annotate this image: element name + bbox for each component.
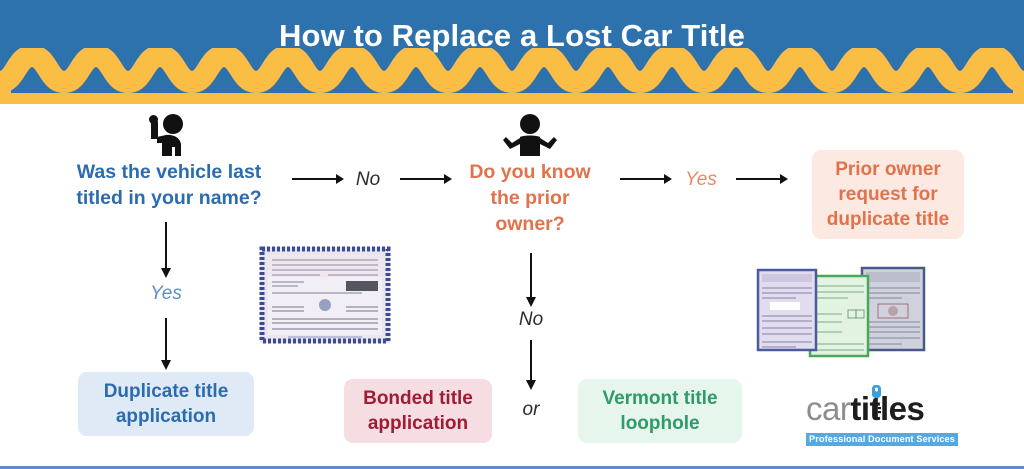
person-raising-hand-icon	[140, 113, 196, 157]
arrow-no-to-q2	[400, 172, 452, 186]
outcome-duplicate-line-1: Duplicate title	[90, 379, 242, 404]
outcome-prior-owner-request-for-duplicate-title: Prior owner request for duplicate title	[812, 150, 964, 239]
logo-tagline: Professional Document Services	[806, 433, 958, 446]
outcome-duplicate-title-application: Duplicate title application	[78, 372, 254, 436]
vehicle-title-certificate-image	[258, 245, 392, 345]
question-2-line-3: owner?	[448, 212, 612, 238]
header-banner: How to Replace a Lost Car Title	[0, 0, 1024, 104]
outcome-bonded-line-2: application	[356, 411, 480, 436]
arrow-no-to-or	[524, 340, 538, 390]
page-title: How to Replace a Lost Car Title	[0, 18, 1024, 54]
edge-label-q1-yes: Yes	[142, 284, 190, 303]
question-2-line-1: Do you know	[448, 160, 612, 186]
question-1-line-1: Was the vehicle last	[52, 160, 286, 186]
outcome-vermont-title-loophole: Vermont title loophole	[578, 379, 742, 443]
arrow-q1-to-no	[292, 172, 344, 186]
arrow-yes-to-prior-owner	[736, 172, 788, 186]
key-icon	[869, 385, 883, 419]
outcome-vermont-line-2: loophole	[590, 411, 730, 436]
arrow-yes-to-duplicate-title	[159, 318, 173, 370]
arrow-q2-to-no	[524, 253, 538, 307]
outcome-vermont-line-1: Vermont title	[590, 386, 730, 411]
edge-label-or: or	[510, 400, 552, 419]
edge-label-q1-no: No	[344, 170, 392, 189]
cartitles-logo: cartitles Professional Document Services	[806, 392, 996, 447]
outcome-bonded-title-application: Bonded title application	[344, 379, 492, 443]
question-2-line-2: the prior	[448, 186, 612, 212]
logo-word-titles: titles	[850, 390, 924, 427]
arrow-q2-to-yes	[620, 172, 672, 186]
question-2-text: Do you know the prior owner?	[448, 160, 612, 238]
outcome-bonded-line-1: Bonded title	[356, 386, 480, 411]
question-1-line-2: titled in your name?	[52, 186, 286, 212]
arrow-q1-to-yes	[159, 222, 173, 278]
question-1-text: Was the vehicle last titled in your name…	[52, 160, 286, 212]
outcome-prior-owner-line-1: Prior owner	[824, 157, 952, 182]
outcome-duplicate-line-2: application	[90, 404, 242, 429]
logo-word-car: car	[806, 390, 850, 427]
edge-label-q2-no: No	[507, 310, 555, 329]
edge-label-q2-yes: Yes	[676, 170, 726, 189]
wave-divider	[0, 48, 1024, 104]
outcome-prior-owner-line-2: request for	[824, 182, 952, 207]
person-shrugging-icon	[500, 113, 560, 157]
outcome-prior-owner-line-3: duplicate title	[824, 207, 952, 232]
three-title-documents-image	[752, 262, 926, 358]
